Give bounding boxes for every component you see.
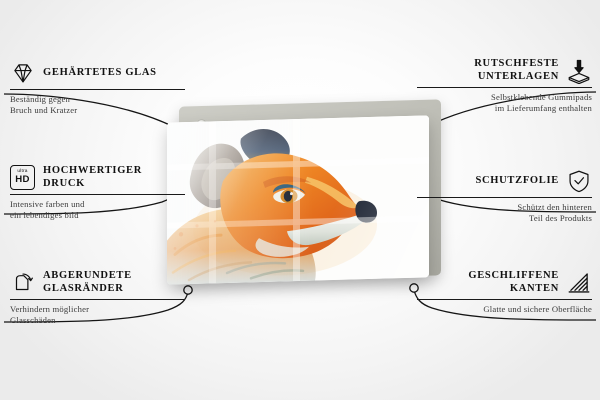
- feature-description: Beständig gegenBruch und Kratzer: [10, 94, 185, 117]
- press-pad-icon: [566, 58, 592, 84]
- feature-divider: [417, 299, 592, 300]
- feature-description: Schützt den hinterenTeil des Produkts: [417, 202, 592, 225]
- ultra-hd-bottom-label: HD: [15, 175, 29, 185]
- feature-title: SCHUTZFOLIE: [475, 175, 559, 188]
- fox-artwork: [167, 115, 429, 284]
- ultra-hd-icon: ultra HD: [10, 165, 36, 191]
- feature-high-quality-print: ultra HD HOCHWERTIGER DRUCK Intensive fa…: [10, 165, 185, 222]
- feature-divider: [417, 87, 592, 88]
- feature-title: GEHÄRTETES GLAS: [43, 67, 157, 80]
- feature-anti-slip-pads: RUTSCHFESTE UNTERLAGEN Selbstklebende Gu…: [417, 58, 592, 115]
- rounded-corner-icon: [10, 270, 36, 296]
- feature-description: Intensive farben undein lebendiges bild: [10, 199, 185, 222]
- infographic-canvas: GEHÄRTETES GLAS Beständig gegenBruch und…: [0, 0, 600, 400]
- feature-title: HOCHWERTIGER DRUCK: [43, 165, 185, 191]
- feature-title: GESCHLIFFENE KANTEN: [417, 270, 559, 296]
- feature-description: Verhindern möglicherGlasschäden: [10, 304, 185, 327]
- feature-description: Glatte und sichere Oberfläche: [417, 304, 592, 315]
- feature-divider: [10, 299, 185, 300]
- feature-ground-edges: GESCHLIFFENE KANTEN Glatte und sichere O…: [417, 270, 592, 315]
- feature-description: Selbstklebende Gummipadsim Lieferumfang …: [417, 92, 592, 115]
- feature-title: ABGERUNDETE GLASRÄNDER: [43, 270, 185, 296]
- feature-divider: [10, 89, 185, 90]
- connector-dot-edges: [184, 286, 192, 294]
- feature-divider: [10, 194, 185, 195]
- feature-title: RUTSCHFESTE UNTERLAGEN: [417, 58, 559, 84]
- shield-check-icon: [566, 168, 592, 194]
- feature-divider: [417, 197, 592, 198]
- feature-hardened-glass: GEHÄRTETES GLAS Beständig gegenBruch und…: [10, 60, 185, 117]
- feature-protective-film: SCHUTZFOLIE Schützt den hinterenTeil des…: [417, 168, 592, 225]
- diamond-icon: [10, 60, 36, 86]
- product-board: [167, 105, 437, 285]
- feature-rounded-edges: ABGERUNDETE GLASRÄNDER Verhindern möglic…: [10, 270, 185, 327]
- glass-panel: [167, 115, 429, 284]
- hatched-edge-icon: [566, 270, 592, 296]
